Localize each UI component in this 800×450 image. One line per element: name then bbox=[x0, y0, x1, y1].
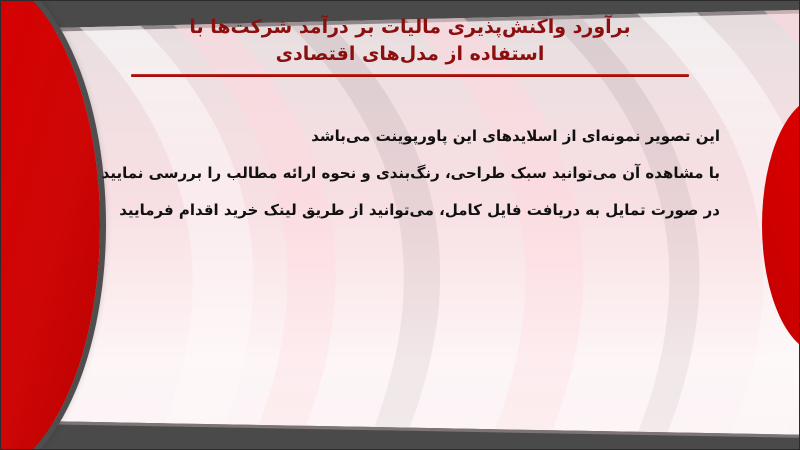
presentation-slide: برآورد واکنش‌پذیری مالیات بر درآمد شرکت‌… bbox=[0, 0, 800, 450]
body-line-1: این تصویر نمونه‌ای از اسلایدهای این پاور… bbox=[80, 118, 720, 155]
body-line-3: در صورت تمایل به دریافت فایل کامل، می‌تو… bbox=[80, 192, 720, 229]
body-line-2: با مشاهده آن می‌توانید سبک طراحی، رنگ‌بن… bbox=[80, 155, 720, 192]
slide-title-line-1: برآورد واکنش‌پذیری مالیات بر درآمد شرکت‌… bbox=[120, 14, 700, 41]
title-divider-rule bbox=[131, 74, 689, 77]
slide-title-line-2: استفاده از مدل‌های اقتصادی bbox=[120, 41, 700, 68]
slide-body-text: این تصویر نمونه‌ای از اسلایدهای این پاور… bbox=[80, 118, 720, 229]
slide-title: برآورد واکنش‌پذیری مالیات بر درآمد شرکت‌… bbox=[120, 14, 700, 77]
